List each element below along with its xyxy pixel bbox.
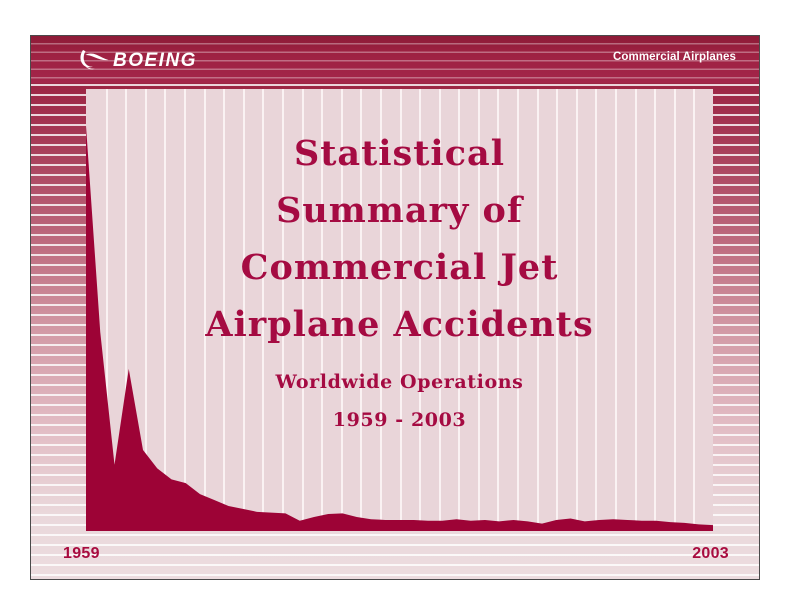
accident-rate-area-chart <box>86 89 713 531</box>
axis-label-start-year: 1959 <box>63 545 100 563</box>
axis-label-end-year: 2003 <box>692 545 729 563</box>
area-series-path <box>86 126 713 531</box>
boeing-logo-text: BOEING <box>113 51 197 70</box>
presentation-slide: BOEING Commercial Airplanes Statistical … <box>30 35 760 580</box>
business-unit-label: Commercial Airplanes <box>613 51 736 63</box>
boeing-logo: BOEING <box>79 48 197 72</box>
chart-plot-area <box>86 89 713 531</box>
slide-header-band: BOEING Commercial Airplanes <box>31 36 759 83</box>
boeing-swoosh-icon <box>79 48 109 72</box>
